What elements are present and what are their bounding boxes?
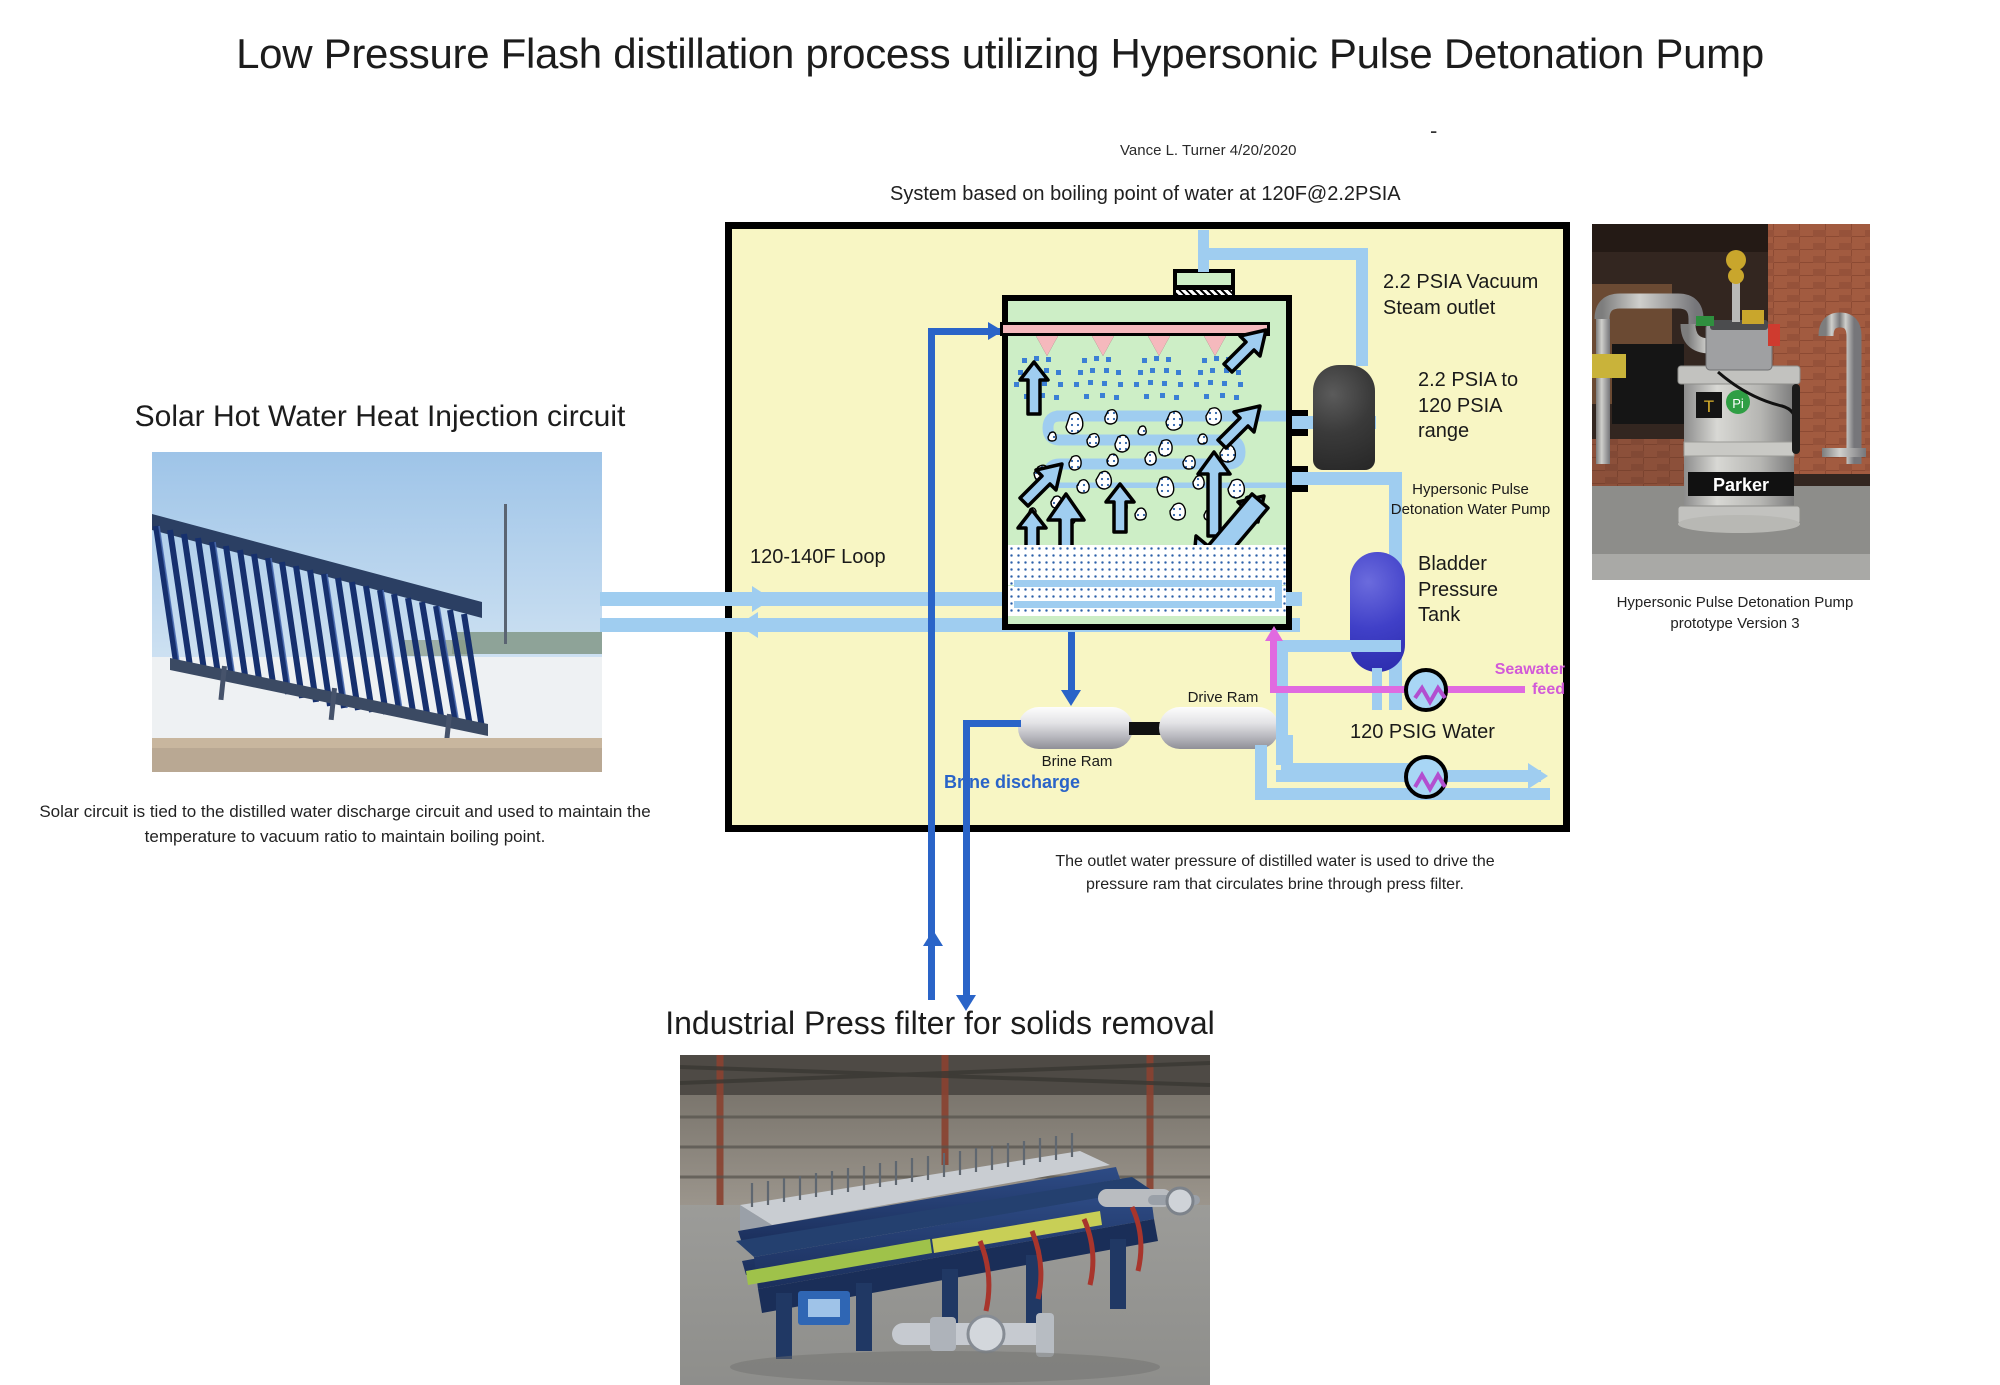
solar-supply-to-pool (1286, 592, 1302, 606)
distilled-discharge-arrow (1528, 763, 1548, 789)
seawater-feed-riser (1270, 640, 1277, 690)
pressure-accumulator-vessel (1313, 365, 1375, 470)
brine-to-press-filter-line (963, 815, 970, 1000)
brine-discharge-label: Brine discharge (944, 772, 1080, 793)
brine-ram-cylinder (1018, 707, 1133, 749)
press-filter-photo (680, 1055, 1210, 1385)
brine-discharge-elbow-vertical (963, 720, 970, 815)
loop-temperature-label: 120-140F Loop (750, 545, 886, 571)
subtitle: System based on boiling point of water a… (890, 183, 1401, 206)
brine-feed-down-arrow (1061, 690, 1081, 706)
solar-section-heading: Solar Hot Water Heat Injection circuit (100, 400, 660, 434)
seawater-feed-arrow (1265, 626, 1283, 641)
pool-heat-exchanger-coil (1014, 580, 1282, 608)
steam-outlet-label: 2.2 PSIA Vacuum Steam outlet (1383, 270, 1563, 321)
solar-supply-arrow (752, 586, 772, 612)
svg-text:Parker: Parker (1713, 475, 1769, 495)
pump-photo-caption: Hypersonic Pulse Detonation Pump prototy… (1590, 592, 1880, 634)
press-filter-return-line (928, 648, 935, 1000)
steam-outlet-pipe-vertical (1356, 248, 1368, 366)
bladder-tank-label: Bladder Pressure Tank (1418, 552, 1513, 629)
hypersonic-pump-label: Hypersonic Pulse Detonation Water Pump (1378, 480, 1563, 519)
ram-connecting-rod (1129, 722, 1163, 735)
brine-feed-down-pipe (1068, 632, 1075, 694)
seawater-flow-meter (1404, 668, 1448, 712)
svg-text:Pi: Pi (1732, 396, 1744, 411)
drive-ram-label: Drive Ram (1178, 688, 1268, 708)
chamber-demister-hatch (1173, 287, 1235, 298)
drive-ram-supply-horizontal (1255, 788, 1550, 800)
brine-discharge-elbow-horizontal (963, 720, 1021, 727)
svg-text:T: T (1704, 397, 1714, 416)
byline: Vance L. Turner 4/20/2020 (1120, 142, 1297, 159)
solar-section-caption: Solar circuit is tied to the distilled w… (0, 800, 690, 849)
solar-collector-photo (152, 452, 602, 772)
press-filter-heading: Industrial Press filter for solids remov… (640, 1005, 1240, 1042)
ram-circuit-caption: The outlet water pressure of distilled w… (1050, 850, 1500, 896)
press-filter-return-arrow (923, 930, 943, 946)
pressure-range-label: 2.2 PSIA to 120 PSIA range (1418, 368, 1553, 445)
seawater-feed-label: Seawater feed (1470, 660, 1565, 700)
spray-feed-riser (928, 328, 935, 648)
bladder-pressure-tank (1350, 552, 1405, 672)
steam-outlet-pipe-horizontal (1203, 248, 1368, 260)
solar-return-arrow (738, 612, 758, 638)
water-pressure-label: 120 PSIG Water (1350, 720, 1495, 746)
drive-ram-cylinder (1159, 707, 1279, 749)
chamber-vapor-nozzle (1173, 269, 1235, 289)
pump-prototype-photo: T Pi Parker (1592, 224, 1870, 580)
distilled-flow-meter (1404, 755, 1448, 799)
brine-ram-label: Brine Ram (1032, 752, 1122, 772)
distilled-discharge-vertical (1276, 640, 1288, 765)
brine-pool-upper (1008, 545, 1286, 585)
title-dot-mark: - (1430, 118, 1437, 144)
page-title: Low Pressure Flash distillation process … (0, 30, 2000, 78)
pump-to-bladder-pipe (1276, 640, 1401, 652)
